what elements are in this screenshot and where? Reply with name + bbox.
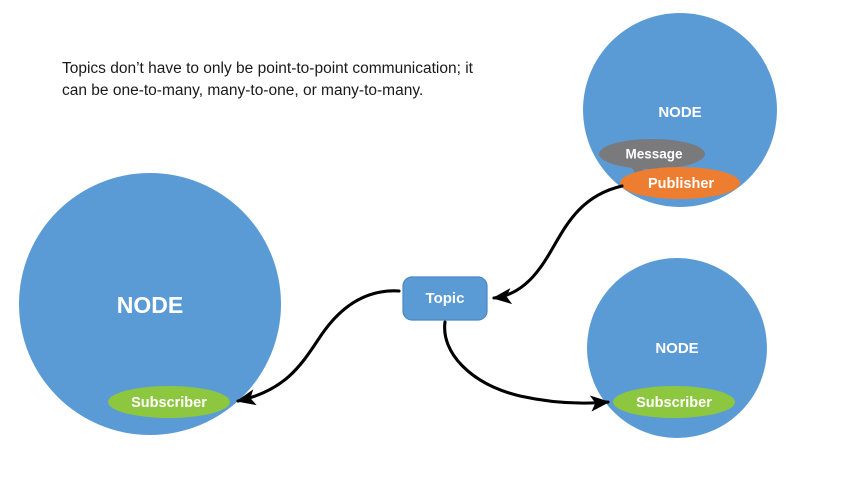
arrow-publisher-to-topic: [494, 186, 622, 298]
node-left[interactable]: NODE Subscriber: [19, 173, 281, 435]
message-label: Message: [625, 147, 683, 162]
arrow-topic-to-bottom-right-subscriber: [445, 322, 608, 403]
diagram-canvas: Topics don’t have to only be point-to-po…: [0, 0, 854, 480]
node-bottom-right[interactable]: NODE Subscriber: [587, 258, 767, 438]
topic-label: Topic: [426, 290, 465, 307]
node-bottom-right-subscriber-label: Subscriber: [636, 395, 712, 411]
node-left-subscriber-label: Subscriber: [131, 395, 207, 411]
ros-topic-diagram: NODE Subscriber NODE Message Publisher N…: [0, 0, 854, 480]
publisher-label: Publisher: [648, 176, 714, 192]
node-left-label: NODE: [117, 292, 183, 318]
node-top-right[interactable]: NODE Message Publisher: [583, 13, 777, 207]
topic-box[interactable]: Topic: [403, 277, 487, 320]
node-bottom-right-label: NODE: [655, 340, 698, 357]
node-top-right-label: NODE: [658, 104, 701, 121]
